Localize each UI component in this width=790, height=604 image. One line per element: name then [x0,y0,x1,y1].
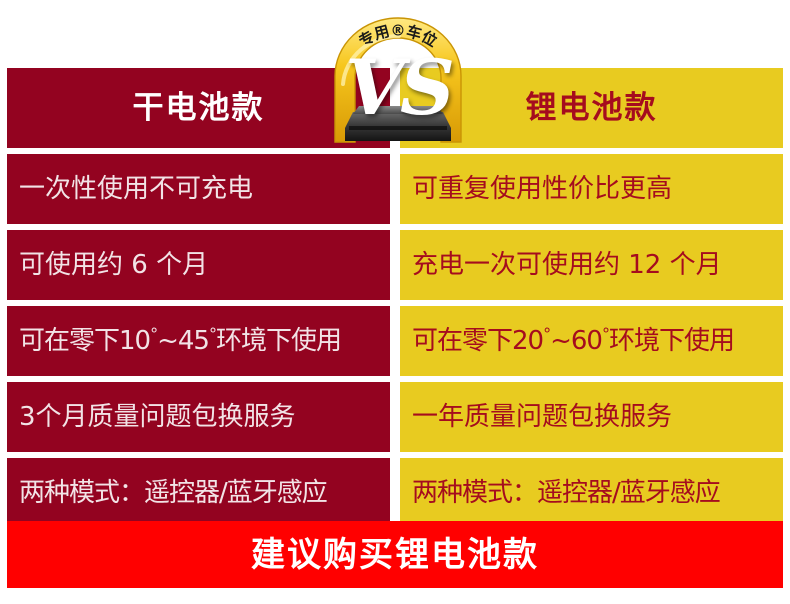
temp-range-mid-left: ~45 [157,326,209,356]
feature-cell-left: 一次性使用不可充电 [7,154,390,224]
header-label-right: 锂电池款 [526,93,658,124]
feature-cell-right: 充电一次可使用约 12 个月 [400,230,783,300]
table-row: 可在零下10°~45°环境下使用 可在零下20°~60°环境下使用 [7,306,783,376]
table-row: 可使用约 6 个月 充电一次可使用约 12 个月 [7,230,783,300]
feature-text-left: 3个月质量问题包换服务 [19,404,296,430]
feature-cell-right: 两种模式：遥控器/蓝牙感应 [400,458,783,528]
table-row: 两种模式：遥控器/蓝牙感应 两种模式：遥控器/蓝牙感应 [7,458,783,528]
feature-cell-right: 一年质量问题包换服务 [400,382,783,452]
header-label-left: 干电池款 [133,93,265,124]
comparison-poster: 干电池款 锂电池款 一次性使用不可充电 可重复使用性价比更高 可使用约 6 个月… [0,0,790,604]
feature-cell-left: 3个月质量问题包换服务 [7,382,390,452]
recommendation-text: 建议购买锂电池款 [251,538,539,572]
feature-cell-left: 可在零下10°~45°环境下使用 [7,306,390,376]
degree-symbol: ° [209,324,216,343]
feature-text-left: 可在零下10°~45°环境下使用 [19,328,341,354]
feature-text-right: 一年质量问题包换服务 [412,404,672,430]
feature-cell-right: 可在零下20°~60°环境下使用 [400,306,783,376]
temp-range-prefix-right: 可在零下20 [412,326,543,356]
table-row: 3个月质量问题包换服务 一年质量问题包换服务 [7,382,783,452]
vs-label: VS [315,50,481,126]
feature-text-right: 充电一次可使用约 12 个月 [412,252,722,278]
feature-text-left: 可使用约 6 个月 [19,252,208,278]
feature-text-right: 可在零下20°~60°环境下使用 [412,328,734,354]
feature-cell-left: 可使用约 6 个月 [7,230,390,300]
feature-text-right: 两种模式：遥控器/蓝牙感应 [412,480,720,506]
recommendation-banner: 建议购买锂电池款 [7,521,783,588]
temp-range-suffix-left: 环境下使用 [216,326,341,356]
table-row: 一次性使用不可充电 可重复使用性价比更高 [7,154,783,224]
temp-range-suffix-right: 环境下使用 [609,326,734,356]
feature-cell-left: 两种模式：遥控器/蓝牙感应 [7,458,390,528]
degree-symbol: ° [602,324,609,343]
feature-text-right: 可重复使用性价比更高 [412,176,672,202]
feature-text-left: 一次性使用不可充电 [19,176,253,202]
temp-range-mid-right: ~60 [550,326,602,356]
feature-text-left: 两种模式：遥控器/蓝牙感应 [19,480,327,506]
feature-cell-right: 可重复使用性价比更高 [400,154,783,224]
temp-range-prefix-left: 可在零下10 [19,326,150,356]
vs-parking-lock-badge: 专用®车位 VS [315,14,481,150]
